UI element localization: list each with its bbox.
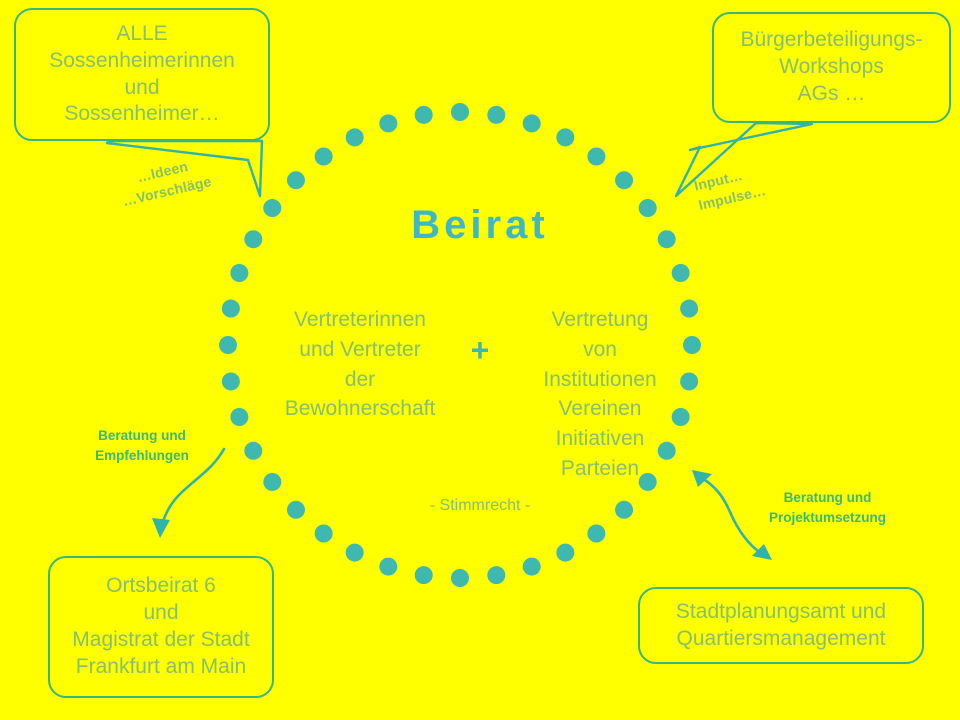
diagram-title: Beirat [0,203,960,248]
circle-dot [415,106,433,124]
arrow-label-beratung-projektumsetzung: Beratung und Projektumsetzung [745,488,910,529]
speech-bubble-all-residents-text: ALLE Sossenheimerinnen und Sossenheimer… [16,21,268,129]
circle-dot [587,148,605,166]
box-stadtplanung-text: Stadtplanungsamt und Quartiersmanagement [640,599,922,653]
arrowhead-projektumsetzung-down [752,544,772,560]
circle-dot [451,569,469,587]
center-composition: Vertreterinnen und Vertreter der Bewohne… [252,305,708,484]
speech-bubble-workshops-text: Bürgerbeteiligungs- Workshops AGs … [714,27,949,108]
arrow-label-beratung-empfehlungen: Beratung und Empfehlungen [78,426,206,467]
circle-dot [222,372,240,390]
speech-bubble-all-residents[interactable]: ALLE Sossenheimerinnen und Sossenheimer… [14,8,270,141]
box-stadtplanung[interactable]: Stadtplanungsamt und Quartiersmanagement [638,587,924,664]
circle-dot [379,114,397,132]
circle-dot [672,264,690,282]
plus-icon: + [455,305,505,369]
circle-dot [523,114,541,132]
circle-dot [379,558,397,576]
circle-dot [615,171,633,189]
circle-dot [346,128,364,146]
speech-bubble-workshops[interactable]: Bürgerbeteiligungs- Workshops AGs … [712,12,951,123]
box-ortsbeirat[interactable]: Ortsbeirat 6 und Magistrat der Stadt Fra… [48,556,274,698]
circle-dot [315,525,333,543]
circle-dot [222,300,240,318]
diagram-canvas: ALLE Sossenheimerinnen und Sossenheimer…… [0,0,960,720]
circle-dot [487,106,505,124]
circle-dot [587,525,605,543]
circle-dot [415,566,433,584]
circle-dot [219,336,237,354]
circle-dot [523,558,541,576]
circle-dot [230,408,248,426]
arrowhead-beratung-empfehlungen [152,518,170,538]
box-ortsbeirat-text: Ortsbeirat 6 und Magistrat der Stadt Fra… [50,573,272,681]
circle-dot [346,544,364,562]
circle-dot [556,128,574,146]
circle-dot [451,103,469,121]
circle-dot [230,264,248,282]
circle-dot [556,544,574,562]
center-column-residents: Vertreterinnen und Vertreter der Bewohne… [265,305,455,424]
circle-dot [487,566,505,584]
center-column-institutions: Vertretung von Institutionen Vereinen In… [505,305,695,484]
circle-dot [287,171,305,189]
circle-dot [315,148,333,166]
